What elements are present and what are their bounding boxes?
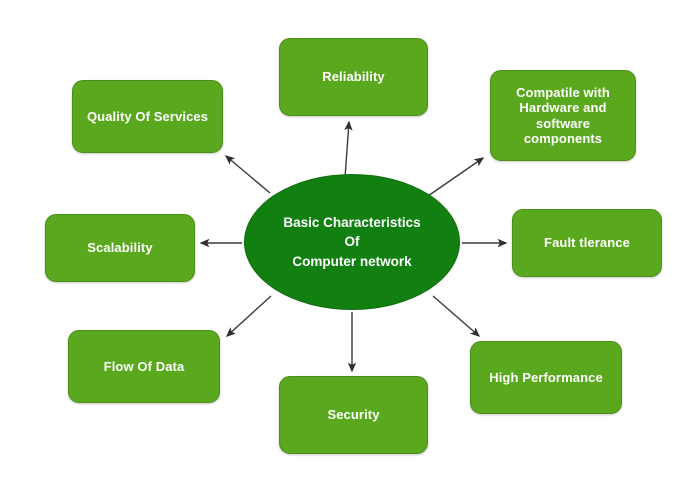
node-label-quality-of-services: Quality Of Services [87,109,208,124]
diagram-canvas: Basic Characteristics Of Computer networ… [0,0,692,488]
connector-arrow-reliability [345,122,349,178]
node-label-flow-of-data: Flow Of Data [104,359,185,374]
node-scalability[interactable]: Scalability [45,214,195,282]
node-high-performance[interactable]: High Performance [470,341,622,414]
connector-arrow-high-performance [433,296,479,336]
center-node-label: Basic Characteristics Of Computer networ… [283,213,420,270]
node-security[interactable]: Security [279,376,428,454]
node-label-security: Security [327,407,379,422]
connector-arrow-quality-of-services [226,156,270,193]
node-label-fault-tolerance: Fault tlerance [544,235,630,250]
connector-arrow-flow-of-data [227,296,271,336]
node-quality-of-services[interactable]: Quality Of Services [72,80,223,153]
connector-arrow-compatible-hardware-software [428,158,483,196]
node-fault-tolerance[interactable]: Fault tlerance [512,209,662,277]
node-compatible-hardware-software[interactable]: Compatile with Hardware and software com… [490,70,636,161]
center-node-basic-characteristics[interactable]: Basic Characteristics Of Computer networ… [244,174,460,310]
node-reliability[interactable]: Reliability [279,38,428,116]
node-flow-of-data[interactable]: Flow Of Data [68,330,220,403]
node-label-scalability: Scalability [87,240,152,255]
node-label-high-performance: High Performance [489,370,603,385]
node-label-compatible-hardware-software: Compatile with Hardware and software com… [516,85,610,146]
node-label-reliability: Reliability [322,69,385,84]
